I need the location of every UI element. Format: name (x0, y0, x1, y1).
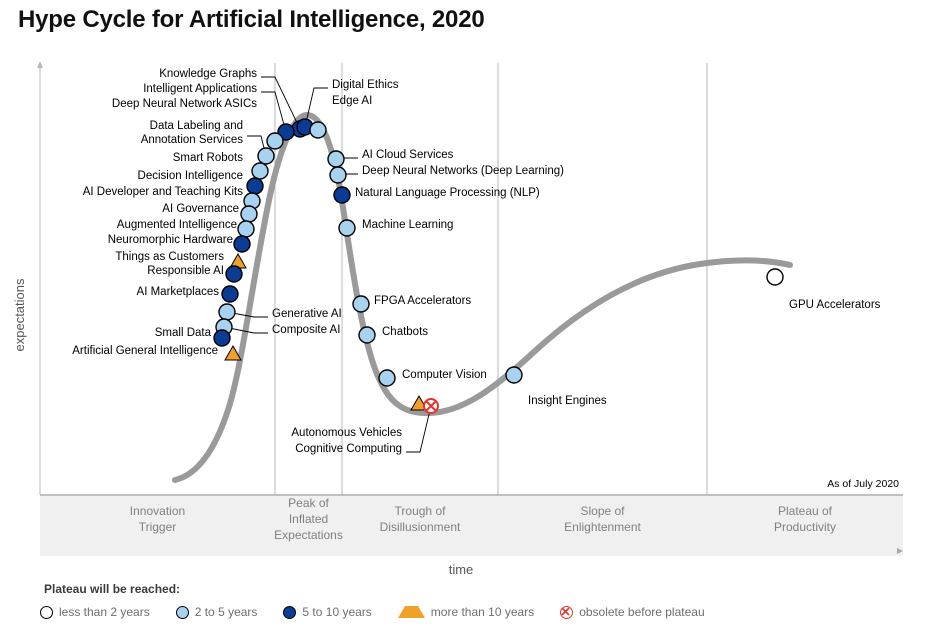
label-composite-ai: Composite AI (272, 324, 340, 336)
circle-marker-icon (40, 606, 53, 619)
legend-item-label: 5 to 10 years (302, 605, 371, 619)
marker-data-labeling-and-annotation-services[interactable] (258, 148, 274, 164)
legend-items: less than 2 years2 to 5 years5 to 10 yea… (40, 605, 731, 619)
label-decision-intelligence: Decision Intelligence (138, 170, 243, 182)
legend-item-more-than-10-years: more than 10 years (398, 605, 534, 619)
label-ai-developer-and-teaching-kits: AI Developer and Teaching Kits (83, 186, 243, 198)
label-computer-vision: Computer Vision (402, 369, 487, 381)
x-axis-label: time (449, 562, 474, 575)
legend-title: Plateau will be reached: (44, 582, 180, 596)
marker-fpga-accelerators[interactable] (353, 296, 369, 312)
legend-item-label: more than 10 years (431, 605, 534, 619)
label-natural-language-processing-nlp: Natural Language Processing (NLP) (355, 187, 540, 199)
label-deep-neural-network-asics: Deep Neural Network ASICs (112, 98, 257, 110)
marker-smart-robots[interactable] (252, 163, 268, 179)
marker-generative-ai[interactable] (219, 304, 235, 320)
legend-item-label: less than 2 years (59, 605, 150, 619)
circle-marker-icon (176, 606, 189, 619)
as-of-note: As of July 2020 (827, 478, 899, 490)
legend-item-label: obsolete before plateau (579, 605, 704, 619)
label-chatbots: Chatbots (382, 326, 428, 338)
marker-chatbots[interactable] (359, 327, 375, 343)
circle-marker-icon (283, 606, 296, 619)
marker-small-data[interactable] (214, 330, 230, 346)
marker-edge-ai[interactable] (310, 122, 326, 138)
label-ai-cloud-services: AI Cloud Services (362, 149, 454, 161)
marker-ai-governance[interactable] (241, 206, 257, 222)
label-insight-engines: Insight Engines (528, 395, 607, 407)
legend-item-2-to-5-years: 2 to 5 years (176, 605, 258, 619)
marker-responsible-ai[interactable] (226, 266, 242, 282)
marker-computer-vision[interactable] (379, 370, 395, 386)
legend: Plateau will be reached: less than 2 yea… (0, 578, 926, 636)
label-ai-governance: AI Governance (162, 203, 239, 215)
label-gpu-accelerators: GPU Accelerators (789, 299, 881, 311)
label-digital-ethics: Digital Ethics (332, 79, 399, 91)
marker-neuromorphic-hardware[interactable] (234, 236, 250, 252)
marker-insight-engines[interactable] (506, 367, 522, 383)
label-edge-ai: Edge AI (332, 95, 372, 107)
label-autonomous-vehicles: Autonomous Vehicles (291, 427, 402, 439)
y-axis-arrow (37, 61, 43, 68)
marker-ai-cloud-services[interactable] (328, 151, 344, 167)
label-data-labeling-and-annotation-services: Data Labeling andAnnotation Services (141, 120, 244, 146)
hype-cycle-svg: InnovationTriggerPeak ofInflatedExpectat… (0, 55, 926, 575)
label-artificial-general-intelligence: Artificial General Intelligence (72, 345, 218, 357)
label-smart-robots: Smart Robots (173, 152, 244, 164)
label-deep-neural-networks-deep-learning: Deep Neural Networks (Deep Learning) (362, 165, 564, 177)
label-generative-ai: Generative AI (272, 308, 342, 320)
label-knowledge-graphs: Knowledge Graphs (159, 68, 257, 80)
page-title: Hype Cycle for Artificial Intelligence, … (18, 6, 485, 34)
marker-deep-neural-networks-deep-learning[interactable] (330, 167, 346, 183)
legend-item-obsolete-before-plateau: obsolete before plateau (560, 605, 704, 619)
label-small-data: Small Data (155, 327, 212, 339)
label-neuromorphic-hardware: Neuromorphic Hardware (108, 234, 233, 246)
label-machine-learning: Machine Learning (362, 219, 453, 231)
label-responsible-ai: Responsible AI (147, 265, 224, 277)
label-things-as-customers: Things as Customers (115, 251, 224, 263)
legend-item-5-to-10-years: 5 to 10 years (283, 605, 371, 619)
legend-item-less-than-2-years: less than 2 years (40, 605, 150, 619)
label-augmented-intelligence: Augmented Intelligence (117, 219, 237, 231)
hype-cycle-chart: InnovationTriggerPeak ofInflatedExpectat… (0, 55, 926, 575)
marker-gpu-accelerators[interactable] (767, 269, 783, 285)
label-ai-marketplaces: AI Marketplaces (137, 286, 220, 298)
label-intelligent-applications: Intelligent Applications (143, 83, 257, 95)
y-axis-label: expectations (12, 278, 27, 351)
marker-machine-learning[interactable] (339, 220, 355, 236)
marker-deep-neural-network-asics[interactable] (267, 133, 283, 149)
crossed-circle-marker-icon (560, 606, 573, 619)
legend-item-label: 2 to 5 years (195, 605, 258, 619)
label-cognitive-computing: Cognitive Computing (295, 443, 402, 455)
marker-decision-intelligence[interactable] (247, 178, 263, 194)
marker-natural-language-processing-nlp[interactable] (334, 187, 350, 203)
marker-ai-marketplaces[interactable] (222, 286, 238, 302)
triangle-marker-icon (398, 606, 425, 618)
label-fpga-accelerators: FPGA Accelerators (374, 295, 471, 307)
marker-augmented-intelligence[interactable] (238, 221, 254, 237)
